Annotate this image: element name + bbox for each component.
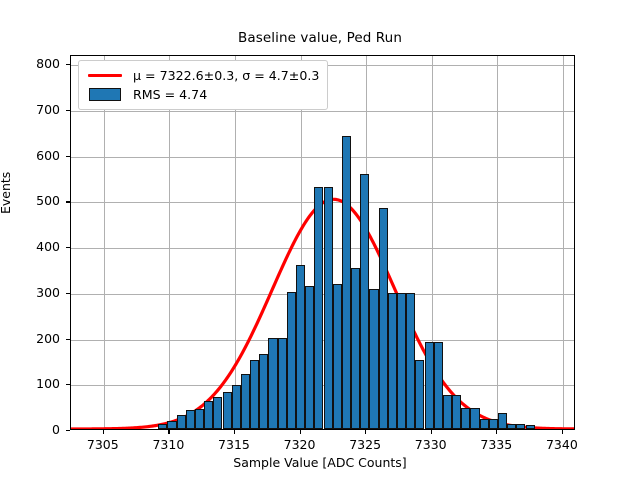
x-tick-label: 7335	[461, 437, 531, 452]
x-tick-label: 7320	[265, 437, 335, 452]
histogram-bar	[250, 360, 259, 429]
y-tick-label: 200	[14, 331, 60, 346]
legend-item-rms: RMS = 4.74	[86, 85, 319, 104]
histogram-bar	[342, 136, 351, 429]
histogram-bar	[333, 284, 342, 429]
y-tick-label: 700	[14, 102, 60, 117]
histogram-bar	[489, 419, 498, 429]
histogram-bar	[498, 413, 507, 429]
histogram-bar	[158, 424, 167, 429]
x-tick-mark	[365, 430, 366, 434]
histogram-bar	[259, 354, 268, 429]
y-tick-mark	[66, 110, 70, 111]
y-tick-label: 0	[14, 422, 60, 437]
y-axis-label: Events	[0, 172, 13, 214]
y-tick-mark	[66, 430, 70, 431]
x-tick-label: 7315	[199, 437, 269, 452]
histogram-bar	[296, 265, 305, 429]
x-tick-mark	[168, 430, 169, 434]
histogram-bar	[232, 385, 241, 429]
x-tick-mark	[103, 430, 104, 434]
histogram-bar	[406, 293, 415, 429]
histogram-bar	[278, 338, 287, 429]
y-tick-label: 100	[14, 376, 60, 391]
y-tick-label: 300	[14, 285, 60, 300]
x-tick-label: 7310	[133, 437, 203, 452]
y-tick-mark	[66, 64, 70, 65]
histogram-bar	[186, 410, 195, 429]
histogram-bar	[204, 401, 213, 429]
legend-line-swatch	[86, 74, 124, 77]
legend-label-rms: RMS = 4.74	[133, 87, 207, 102]
histogram-bar	[287, 292, 296, 429]
legend: μ = 7322.6±0.3, σ = 4.7±0.3 RMS = 4.74	[78, 60, 328, 110]
histogram-bar	[452, 395, 461, 429]
histogram-bar	[223, 392, 232, 430]
histogram-bar	[241, 374, 250, 429]
y-tick-mark	[66, 339, 70, 340]
histogram-bar	[388, 293, 397, 429]
y-tick-label: 500	[14, 193, 60, 208]
y-tick-label: 600	[14, 148, 60, 163]
x-tick-label: 7330	[396, 437, 466, 452]
histogram-bar	[443, 395, 452, 429]
x-tick-label: 7305	[68, 437, 138, 452]
histogram-bar	[480, 419, 489, 429]
histogram-bar	[507, 424, 516, 429]
x-tick-mark	[562, 430, 563, 434]
histogram-bar	[516, 424, 525, 429]
x-tick-mark	[234, 430, 235, 434]
y-tick-mark	[66, 201, 70, 202]
x-tick-mark	[431, 430, 432, 434]
y-tick-mark	[66, 384, 70, 385]
histogram-bar	[397, 293, 406, 429]
histogram-bar	[268, 338, 277, 429]
histogram-bar	[425, 342, 434, 429]
y-tick-label: 400	[14, 239, 60, 254]
legend-patch-swatch	[86, 88, 124, 101]
x-tick-label: 7340	[527, 437, 597, 452]
histogram-bar	[213, 397, 222, 429]
y-tick-mark	[66, 156, 70, 157]
histogram-bar	[314, 187, 323, 429]
legend-item-fit: μ = 7322.6±0.3, σ = 4.7±0.3	[86, 66, 319, 85]
x-tick-mark	[300, 430, 301, 434]
histogram-bar	[177, 415, 186, 429]
histogram-bar	[461, 408, 470, 429]
x-tick-label: 7325	[330, 437, 400, 452]
histogram-bar	[195, 409, 204, 429]
x-tick-mark	[496, 430, 497, 434]
histogram-bar	[526, 425, 535, 429]
chart-title: Baseline value, Ped Run	[0, 30, 640, 46]
histogram-bar	[360, 174, 369, 429]
legend-label-fit: μ = 7322.6±0.3, σ = 4.7±0.3	[133, 68, 319, 83]
histogram-bar	[369, 289, 378, 429]
y-tick-label: 800	[14, 56, 60, 71]
histogram-bar	[470, 408, 479, 429]
figure: Baseline value, Ped Run 7305731073157320…	[0, 0, 640, 480]
plot-area	[70, 55, 575, 430]
histogram-bar	[379, 208, 388, 429]
histogram-bar	[324, 187, 333, 429]
histogram-bar	[351, 268, 360, 429]
histogram-bar	[167, 421, 176, 429]
histogram-bar	[415, 360, 424, 429]
histogram-bar	[305, 286, 314, 429]
y-tick-mark	[66, 247, 70, 248]
histogram-bar	[434, 342, 443, 429]
x-axis-label: Sample Value [ADC Counts]	[0, 455, 640, 470]
y-tick-mark	[66, 293, 70, 294]
